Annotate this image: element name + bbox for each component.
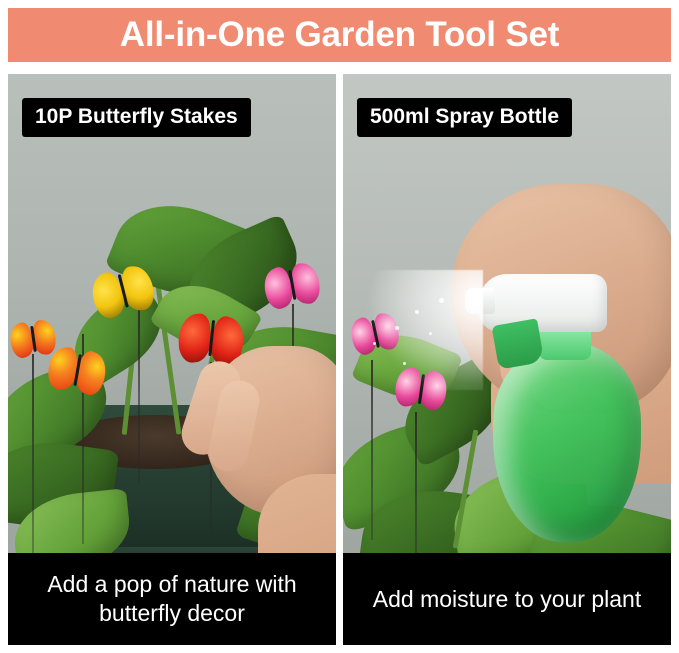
header-banner: All-in-One Garden Tool Set: [8, 8, 671, 62]
stake-wire: [371, 360, 373, 540]
finger: [205, 377, 263, 475]
pot-rim: [26, 413, 288, 459]
plant-leaf: [351, 320, 463, 413]
soil: [60, 415, 250, 469]
stake-wire: [415, 412, 417, 572]
butterfly-pink-small: [348, 311, 402, 356]
butterfly-orange-left: [8, 319, 58, 359]
plant-leaf: [58, 281, 178, 390]
spray-bottle-neck: [539, 320, 591, 360]
mist-droplet: [395, 326, 399, 330]
mist-droplet: [403, 362, 406, 365]
butterfly-red-center: [176, 313, 247, 368]
hand: [204, 346, 336, 516]
photo-spray-bottle: 500ml Spray Bottle Add moisture to your …: [343, 74, 671, 645]
panel-spray-bottle: 500ml Spray Bottle Add moisture to your …: [343, 74, 671, 645]
plant-leaf: [173, 213, 313, 334]
stake-wire: [292, 304, 294, 484]
finger: [176, 356, 246, 460]
panel-caption: Add moisture to your plant: [343, 553, 671, 645]
plant-leaf: [448, 461, 595, 567]
mist-droplet: [429, 332, 432, 335]
stake-wire: [82, 334, 84, 544]
panel-caption: Add a pop of nature with butterfly decor: [8, 553, 336, 645]
hand: [451, 184, 671, 414]
plant-leaf: [343, 414, 472, 533]
plant-leaf: [149, 268, 263, 370]
plant-leaf: [214, 316, 336, 421]
plant-stem: [122, 315, 140, 435]
plant-stem: [156, 285, 182, 434]
plant-leaf: [104, 185, 256, 315]
butterfly-orange-mid: [45, 345, 109, 396]
butterfly-pink-right: [261, 261, 323, 310]
spray-bottle-body: [493, 342, 641, 542]
panel-butterfly-stakes: 10P Butterfly Stakes Add a pop of nature…: [8, 74, 336, 645]
stake-wire: [138, 304, 140, 484]
mist-droplet: [415, 310, 419, 314]
stake-wire: [210, 362, 212, 532]
water-mist: [353, 270, 483, 390]
panel-label-chip: 10P Butterfly Stakes: [22, 98, 251, 137]
plant-leaf: [389, 352, 520, 467]
product-infographic: All-in-One Garden Tool Set: [0, 0, 679, 653]
mist-droplet: [439, 298, 444, 303]
finger: [517, 320, 582, 415]
stake-wire: [32, 354, 34, 554]
spray-nozzle: [465, 288, 495, 314]
panel-label-chip: 500ml Spray Bottle: [357, 98, 572, 137]
plant-leaf: [8, 357, 119, 470]
butterfly-pink-lower: [393, 367, 450, 412]
butterfly-yellow-top: [88, 263, 159, 321]
spray-trigger-head: [479, 274, 607, 332]
mist-droplet: [373, 342, 376, 345]
forearm: [491, 324, 671, 484]
plant-stem: [193, 331, 221, 440]
photo-butterfly-stakes: 10P Butterfly Stakes Add a pop of nature…: [8, 74, 336, 645]
plant-stem: [453, 429, 479, 548]
spray-trigger-lever: [492, 318, 545, 369]
finger: [495, 318, 546, 394]
panel-grid: 10P Butterfly Stakes Add a pop of nature…: [8, 74, 671, 645]
plant-leaf: [230, 391, 336, 498]
plant-leaf: [8, 433, 119, 536]
page-title: All-in-One Garden Tool Set: [120, 15, 559, 55]
